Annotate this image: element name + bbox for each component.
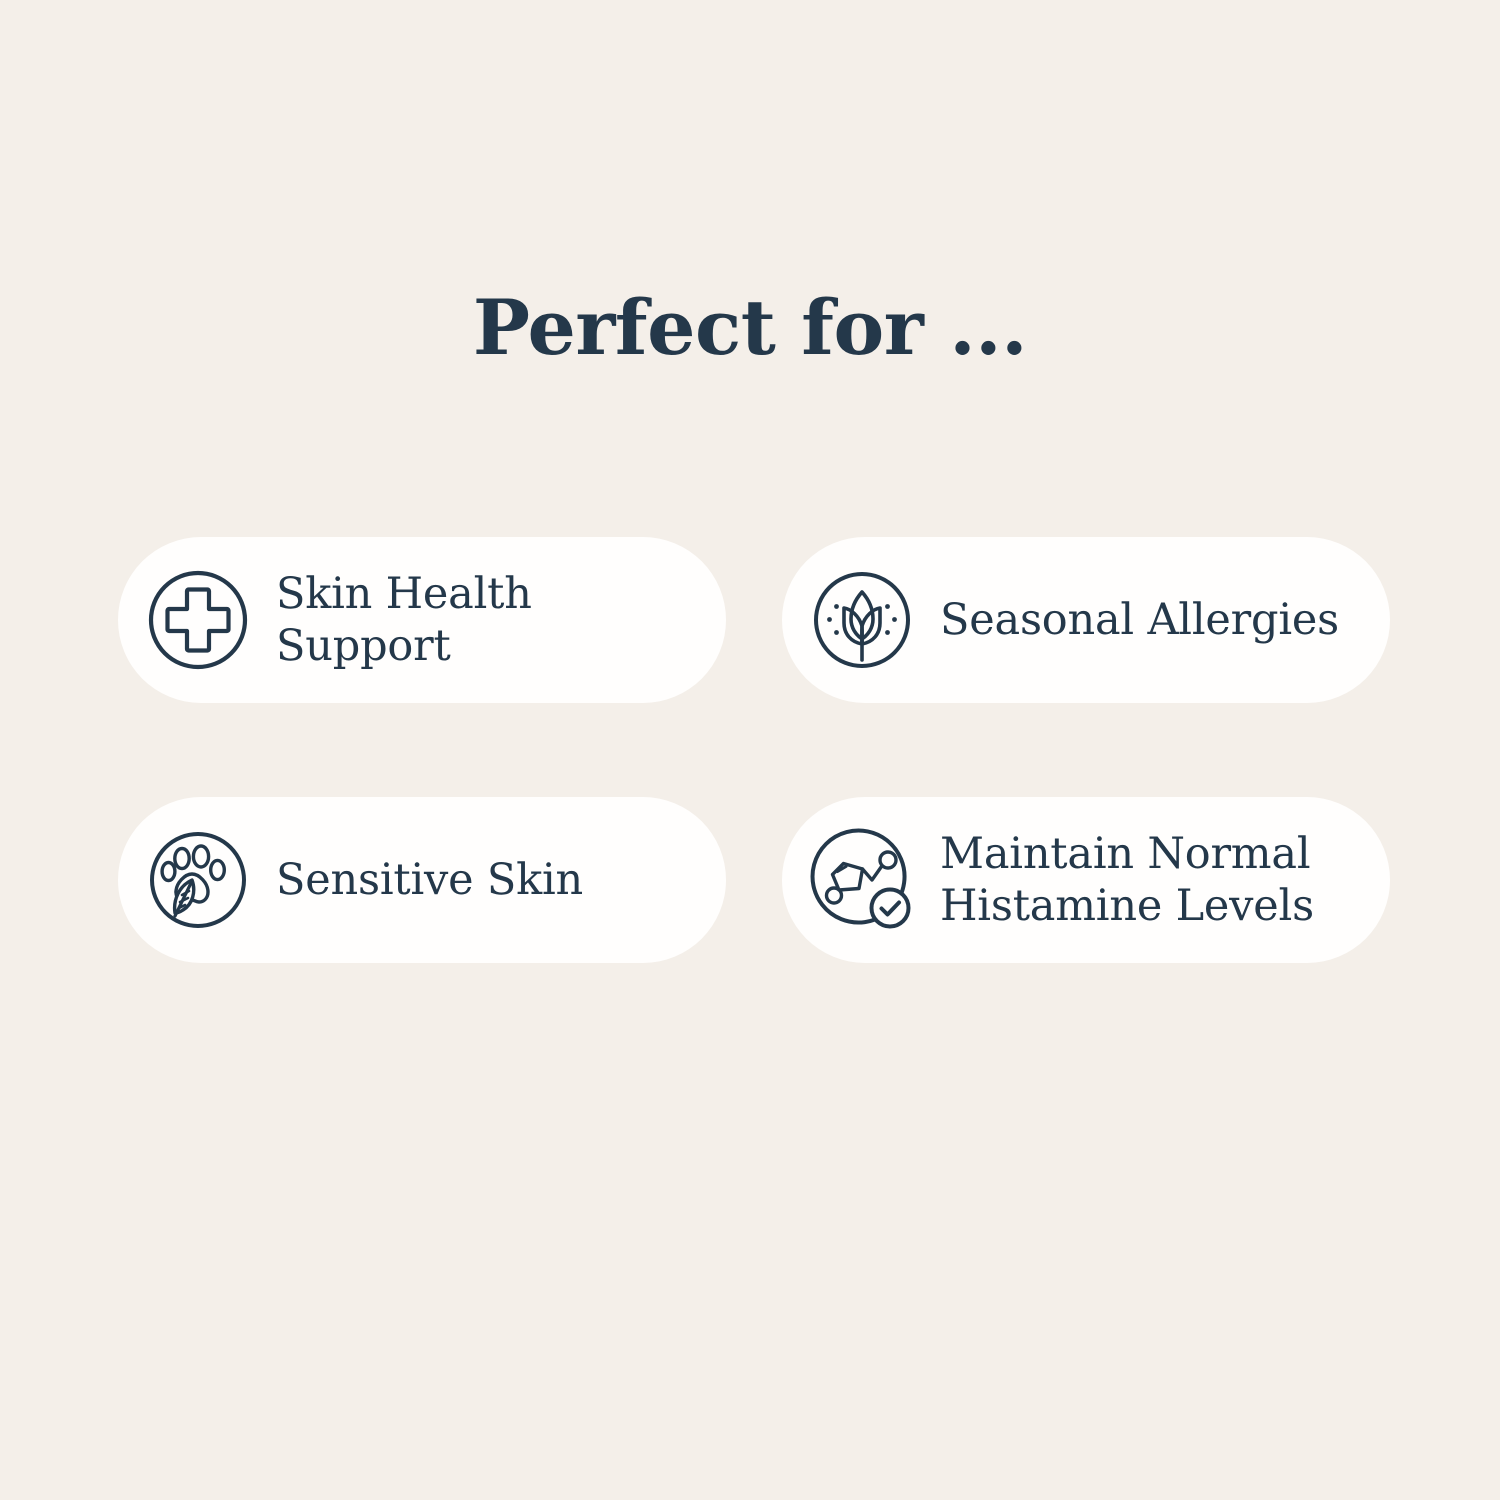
paw-feather-circle-icon bbox=[146, 828, 250, 932]
benefit-card-label-line1: Skin Health bbox=[276, 569, 532, 619]
page-title: Perfect for ... bbox=[0, 288, 1500, 368]
benefit-card-histamine-levels[interactable]: Maintain Normal Histamine Levels bbox=[782, 797, 1390, 963]
benefit-card-skin-health-support[interactable]: Skin Health Support bbox=[118, 537, 726, 703]
benefit-card-label-line2: Support bbox=[276, 620, 532, 672]
benefit-card-label: Sensitive Skin bbox=[276, 854, 583, 906]
perfect-for-section: Perfect for ... Skin Health Support bbox=[0, 0, 1500, 1500]
medical-cross-circle-icon bbox=[146, 568, 250, 672]
benefit-card-label: Seasonal Allergies bbox=[940, 594, 1339, 646]
benefit-card-label-line1: Maintain Normal bbox=[940, 829, 1310, 879]
benefit-card-seasonal-allergies[interactable]: Seasonal Allergies bbox=[782, 537, 1390, 703]
benefit-card-grid: Skin Health Support bbox=[118, 537, 1390, 963]
benefit-card-label: Skin Health Support bbox=[276, 568, 532, 673]
benefit-card-label-line1: Seasonal Allergies bbox=[940, 595, 1339, 645]
benefit-card-label-line2: Histamine Levels bbox=[940, 880, 1314, 932]
benefit-card-sensitive-skin[interactable]: Sensitive Skin bbox=[118, 797, 726, 963]
benefit-card-label-line1: Sensitive Skin bbox=[276, 855, 583, 905]
molecule-check-circle-icon bbox=[810, 828, 914, 932]
flower-pollen-circle-icon bbox=[810, 568, 914, 672]
benefit-card-label: Maintain Normal Histamine Levels bbox=[940, 828, 1314, 933]
